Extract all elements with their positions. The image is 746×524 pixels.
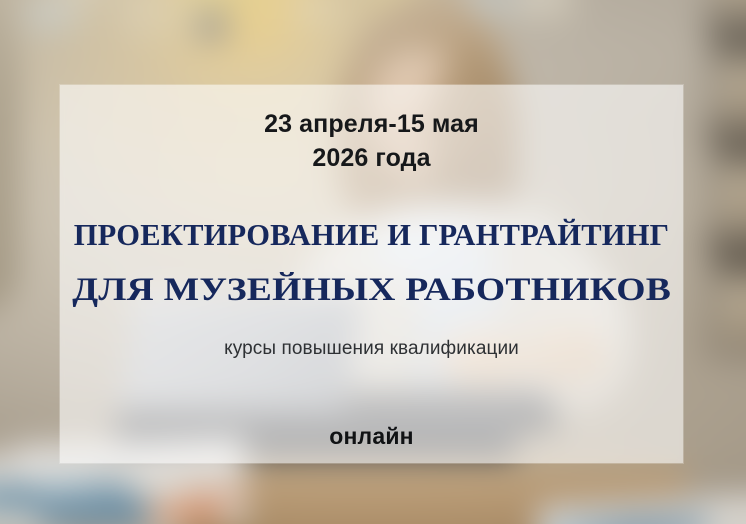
headline-line-2: ДЛЯ МУЗЕЙНЫХ РАБОТНИКОВ [72,274,671,307]
course-subtitle: курсы повышения квалификации [224,338,519,360]
delivery-format: онлайн [329,423,414,450]
headline-line-1: ПРОЕКТИРОВАНИЕ И ГРАНТРАЙТИНГ [74,220,670,251]
poster-canvas: 23 апреля-15 мая 2026 года ПРОЕКТИРОВАНИ… [0,0,746,524]
poster-content: 23 апреля-15 мая 2026 года ПРОЕКТИРОВАНИ… [60,85,683,463]
date-year: 2026 года [312,141,430,175]
date-range: 23 апреля-15 мая [264,107,479,141]
